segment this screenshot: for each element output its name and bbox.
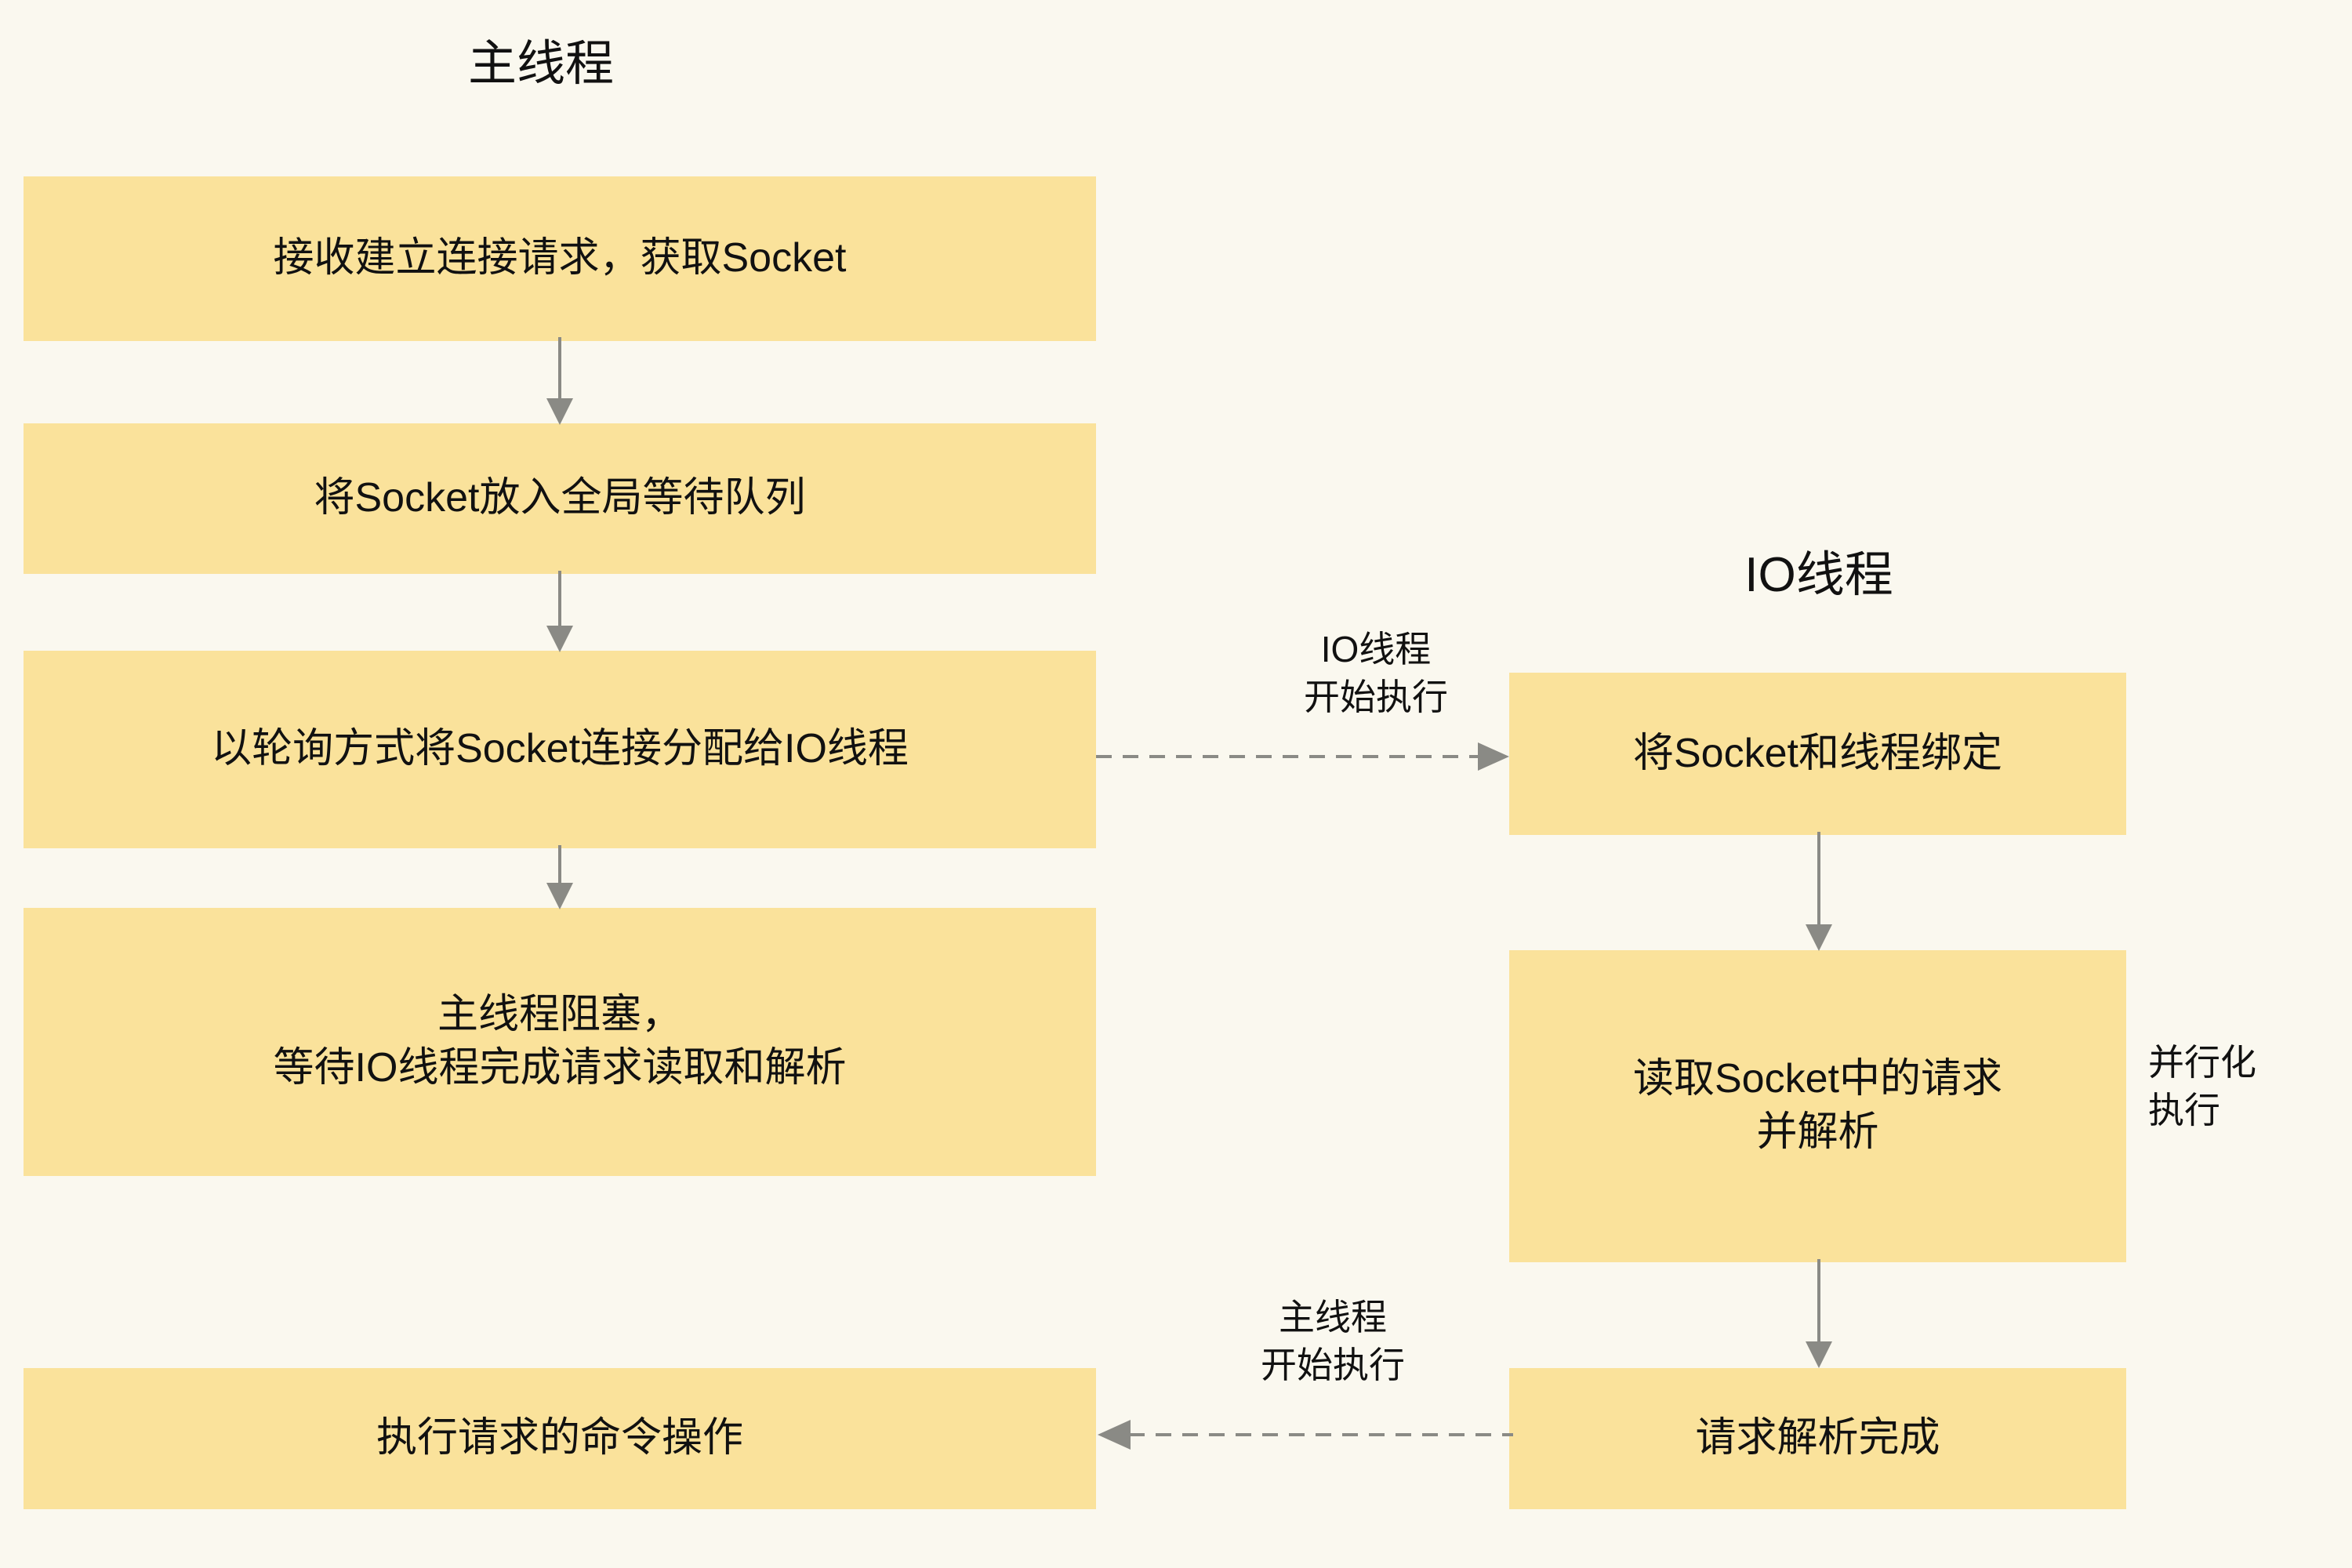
column-title-main-thread: 主线程 xyxy=(468,38,614,91)
node-io-bind-socket-thread[interactable]: 将Socket和线程绑定 xyxy=(1509,673,2126,835)
connector-main2-to-main3 xyxy=(521,571,599,657)
connector-main3-to-main4 xyxy=(521,845,599,914)
node-main-receive-connection[interactable]: 接收建立连接请求，获取Socket xyxy=(24,176,1096,341)
flowchart-canvas: 主线程 IO线程 接收建立连接请求，获取Socket 将Socket放入全局等待… xyxy=(0,0,2352,1568)
connector-main1-to-main2 xyxy=(521,337,599,430)
connector-io3-to-main5-dashed xyxy=(1094,1411,1513,1458)
connector-io1-to-io2 xyxy=(1780,832,1858,956)
node-main-thread-blocked[interactable]: 主线程阻塞， 等待IO线程完成请求读取和解析 xyxy=(24,908,1096,1176)
edge-label-io-thread-start: IO线程 开始执行 xyxy=(1304,626,1448,720)
node-main-assign-socket-roundrobin[interactable]: 以轮询方式将Socket连接分配给IO线程 xyxy=(24,651,1096,848)
annotation-parallel-execution: 并行化 执行 xyxy=(2148,1039,2256,1134)
node-io-parse-complete[interactable]: 请求解析完成 xyxy=(1509,1368,2126,1509)
node-io-read-and-parse[interactable]: 读取Socket中的请求 并解析 xyxy=(1509,950,2126,1262)
edge-label-main-thread-start: 主线程 开始执行 xyxy=(1261,1294,1405,1388)
connector-main3-to-io1-dashed xyxy=(1096,733,1513,780)
node-main-enqueue-socket[interactable]: 将Socket放入全局等待队列 xyxy=(24,423,1096,574)
column-title-io-thread: IO线程 xyxy=(1744,549,1893,602)
node-main-execute-command[interactable]: 执行请求的命令操作 xyxy=(24,1368,1096,1509)
connector-io2-to-io3 xyxy=(1780,1259,1858,1373)
